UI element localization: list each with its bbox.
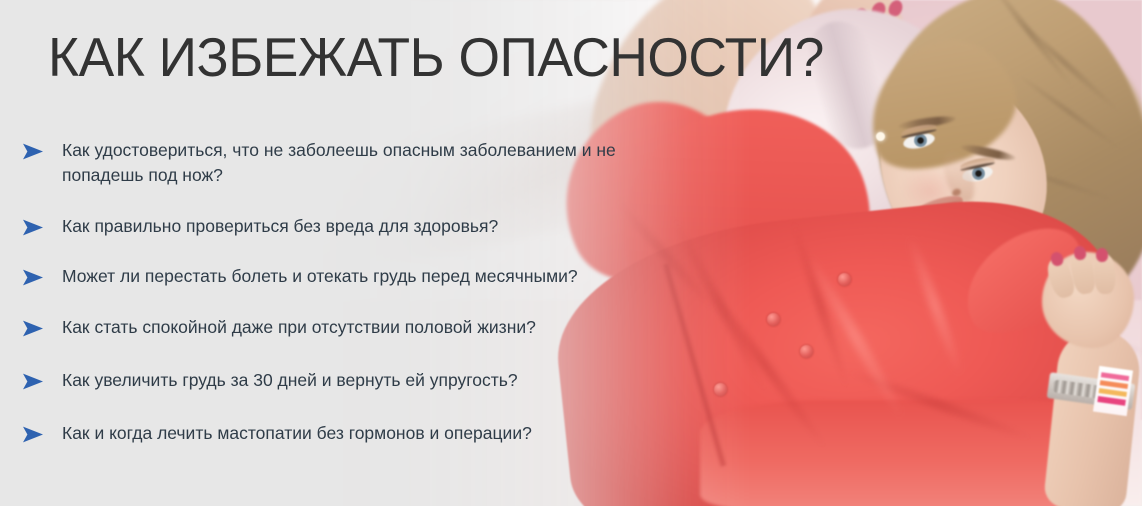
earring [876, 132, 885, 141]
tag-stripe [1099, 388, 1127, 397]
iris-left [914, 134, 927, 147]
fingernail [1096, 248, 1109, 263]
arrow-right-icon [22, 142, 44, 159]
arrow-right-icon [22, 372, 44, 389]
arrow-right-icon [22, 425, 44, 442]
tag-stripe [1100, 380, 1128, 389]
list-item-label: Как стать спокойной даже при отсутствии … [62, 315, 678, 340]
list-item-label: Может ли перестать болеть и отекать груд… [62, 264, 678, 289]
list-item: Как стать спокойной даже при отсутствии … [18, 315, 678, 340]
wrist-tag [1093, 366, 1133, 416]
list-item: Может ли перестать болеть и отекать груд… [18, 264, 678, 289]
shirt-button [714, 383, 727, 396]
banner-content: КАК ИЗБЕЖАТЬ ОПАСНОСТИ? Как удостоверить… [0, 0, 700, 506]
iris-right [972, 167, 985, 180]
arrow-right-icon [22, 218, 44, 235]
shirt-button [838, 273, 851, 286]
arrow-right-icon [22, 268, 44, 285]
page-title: КАК ИЗБЕЖАТЬ ОПАСНОСТИ? [48, 26, 824, 88]
promo-banner: КАК ИЗБЕЖАТЬ ОПАСНОСТИ? Как удостоверить… [0, 0, 1142, 506]
tag-stripe [1101, 372, 1129, 381]
shirt-button [767, 313, 780, 326]
arrow-right-icon [22, 319, 44, 336]
list-item-label: Как увеличить грудь за 30 дней и вернуть… [62, 368, 678, 393]
list-item: Как удостовериться, что не заболеешь опа… [18, 138, 678, 188]
list-item: Как и когда лечить мастопатии без гормон… [18, 421, 678, 446]
list-item-label: Как правильно провериться без вреда для … [62, 214, 678, 239]
shirt-button [800, 345, 813, 358]
list-item-label: Как удостовериться, что не заболеешь опа… [62, 138, 678, 188]
list-item: Как увеличить грудь за 30 дней и вернуть… [18, 368, 678, 393]
list-item: Как правильно провериться без вреда для … [18, 214, 678, 239]
benefits-list: Как удостовериться, что не заболеешь опа… [18, 138, 678, 468]
tag-stripe [1097, 396, 1126, 406]
list-item-label: Как и когда лечить мастопатии без гормон… [62, 421, 678, 446]
